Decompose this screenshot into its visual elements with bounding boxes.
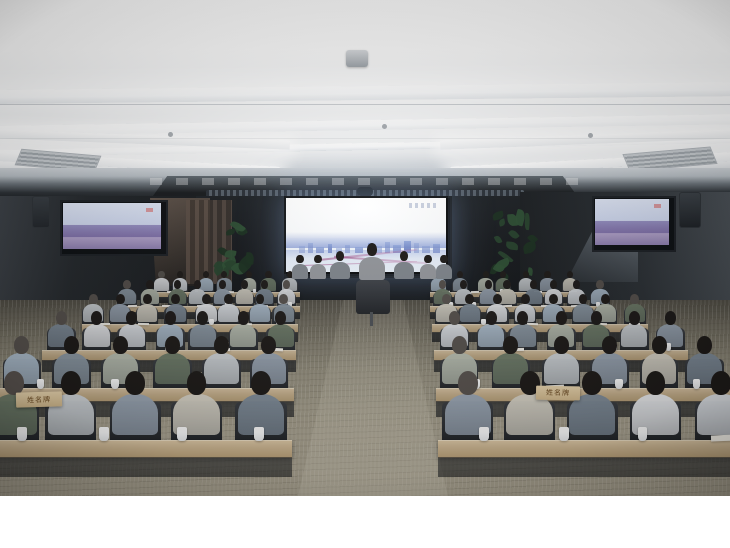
attendee-head xyxy=(165,336,180,354)
attendee-head xyxy=(89,294,98,305)
attendee-body xyxy=(250,304,270,322)
attendee-head xyxy=(203,271,209,279)
attendee-body xyxy=(236,289,253,305)
attendee-head xyxy=(241,280,248,289)
paper-cup xyxy=(638,427,648,441)
attendee-head xyxy=(146,280,153,289)
handout-paper xyxy=(138,322,149,325)
paper-cup xyxy=(559,427,569,441)
desk-nameplate-right-text: 姓名牌 xyxy=(546,388,570,398)
front-row-attendee-head xyxy=(336,251,344,261)
attendee-head xyxy=(646,371,666,395)
screenshot-root: 姓名牌 姓名牌 xyxy=(0,0,730,548)
attendee-head xyxy=(579,294,588,305)
attendee-head xyxy=(556,311,567,325)
attendee-head xyxy=(275,311,286,325)
attendee-head xyxy=(442,294,451,305)
attendee-head xyxy=(457,271,463,279)
attendee-head xyxy=(665,311,676,325)
paper-cup xyxy=(17,427,27,441)
attendee-head xyxy=(221,271,227,279)
desk-nameplate-left-text: 姓名牌 xyxy=(27,394,51,405)
attendee-body xyxy=(460,304,480,322)
attendee-body xyxy=(218,304,238,322)
attendee-head xyxy=(711,371,730,395)
attendee-head xyxy=(573,280,580,289)
attendee-body xyxy=(84,324,110,347)
attendee-body xyxy=(621,324,647,347)
desk-nameplate-left: 姓名牌 xyxy=(16,391,62,407)
attendee-head xyxy=(697,336,712,354)
attendee-head xyxy=(452,336,467,354)
front-row-attendee-body xyxy=(394,262,414,280)
front-row-attendee-body xyxy=(292,264,309,279)
paper-cup xyxy=(111,379,118,389)
attendee-head xyxy=(283,280,290,289)
attendee-body xyxy=(204,353,239,384)
attendee-head xyxy=(113,336,128,354)
attendee-head xyxy=(265,271,271,279)
attendee-head xyxy=(125,371,145,395)
conference-table xyxy=(0,440,292,458)
presenter-chair xyxy=(356,280,390,314)
attendee-head xyxy=(483,271,489,279)
paper-cup xyxy=(479,427,489,441)
attendee-head xyxy=(165,311,176,325)
chair-leg xyxy=(370,312,373,326)
attendee-head xyxy=(123,280,130,289)
front-row-attendee-body xyxy=(310,264,327,279)
caption-whitespace xyxy=(0,496,730,548)
attendee-head xyxy=(601,294,610,305)
attendee-body xyxy=(544,353,579,384)
front-row-attendee-body xyxy=(420,264,437,279)
paper-cup xyxy=(254,427,264,441)
attendee-head xyxy=(554,336,569,354)
attendee-head xyxy=(64,336,79,354)
attendee-head xyxy=(652,336,667,354)
attendee-head xyxy=(177,271,183,279)
front-row-attendee-body xyxy=(359,257,384,280)
attendee-head xyxy=(549,294,558,305)
attendee-head xyxy=(214,336,229,354)
attendee-body xyxy=(506,394,552,436)
attendee-body xyxy=(190,324,216,347)
attendee-body xyxy=(230,324,256,347)
attendee-head xyxy=(251,371,271,395)
attendee-head xyxy=(544,271,550,279)
attendee-head xyxy=(91,311,102,325)
attendee-body xyxy=(155,353,190,384)
attendee-head xyxy=(523,271,529,279)
attendee-head xyxy=(596,280,603,289)
table-skirt xyxy=(0,457,292,477)
attendee-head xyxy=(567,271,573,279)
attendee-head xyxy=(521,294,530,305)
attendee-head xyxy=(116,294,125,305)
attendee-body xyxy=(112,394,158,436)
attendee-head xyxy=(14,336,29,354)
attendee-head xyxy=(602,336,617,354)
audience-seating xyxy=(0,0,730,496)
attendee-head xyxy=(550,280,557,289)
handout-paper xyxy=(128,305,137,307)
table-skirt xyxy=(438,457,730,477)
paper-cup xyxy=(693,379,700,389)
attendee-head xyxy=(517,311,528,325)
attendee-head xyxy=(458,371,478,395)
attendee-head xyxy=(629,311,640,325)
attendee-head xyxy=(530,280,537,289)
attendee-head xyxy=(197,311,208,325)
attendee-head xyxy=(439,280,446,289)
attendee-body xyxy=(154,278,169,291)
attendee-body xyxy=(137,304,157,322)
attendee-head xyxy=(449,311,460,325)
attendee-head xyxy=(158,271,164,279)
attendee-head xyxy=(493,294,502,305)
attendee-head xyxy=(143,294,152,305)
attendee-head xyxy=(500,271,506,279)
attendee-body xyxy=(697,394,730,436)
attendee-head xyxy=(591,311,602,325)
attendee-head xyxy=(187,371,207,395)
attendee-head xyxy=(238,311,249,325)
paper-cup xyxy=(177,427,187,441)
attendee-head xyxy=(630,294,639,305)
attendee-head xyxy=(503,280,510,289)
attendee-head xyxy=(202,294,211,305)
attendee-head xyxy=(261,280,268,289)
front-row-attendee-body xyxy=(330,262,350,280)
paper-cup xyxy=(99,427,109,441)
attendee-head xyxy=(460,280,467,289)
paper-cup xyxy=(37,379,44,389)
conference-room-photo: 姓名牌 姓名牌 xyxy=(0,0,730,496)
front-row-attendee-body xyxy=(436,264,453,279)
front-row-attendee-head xyxy=(296,255,303,264)
paper-cup xyxy=(209,319,213,325)
attendee-head xyxy=(246,271,252,279)
attendee-head xyxy=(56,311,67,325)
attendee-body xyxy=(478,324,504,347)
front-row-attendee-head xyxy=(440,255,447,264)
desk-nameplate-right: 姓名牌 xyxy=(536,386,580,401)
handout-paper xyxy=(471,291,479,293)
front-row-attendee-head xyxy=(314,255,321,264)
attendee-head xyxy=(582,371,602,395)
attendee-head xyxy=(486,311,497,325)
paper-cup xyxy=(615,379,622,389)
attendee-head xyxy=(61,371,81,395)
attendee-head xyxy=(126,311,137,325)
front-row-attendee-head xyxy=(400,251,408,261)
front-row-attendee-head xyxy=(424,255,431,264)
conference-table xyxy=(438,440,730,458)
front-row-attendee-head xyxy=(367,243,378,256)
